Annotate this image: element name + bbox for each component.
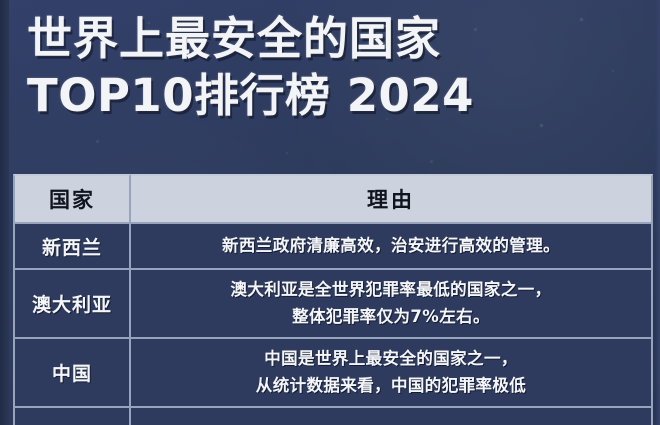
table-row-partial (13, 408, 653, 425)
reason-line: 整体犯罪率仅为7%左右。 (131, 304, 651, 331)
left-edge-strip (0, 0, 9, 425)
reason-line: 新西兰政府清廉高效，治安进行高效的管理。 (131, 233, 651, 260)
reason-line: 从统计数据来看，中国的犯罪率极低 (131, 373, 651, 400)
cell-reason: 澳大利亚是全世界犯罪率最低的国家之一， 整体犯罪率仅为7%左右。 (131, 270, 653, 339)
column-header-country: 国家 (13, 174, 131, 224)
column-header-reason: 理由 (131, 174, 653, 224)
cell-country: 中国 (13, 339, 131, 408)
cell-country-partial (13, 408, 131, 425)
poster-title: 世界上最安全的国家 TOP10排行榜 2024 (27, 16, 627, 119)
ranking-table: 国家 理由 新西兰 新西兰政府清廉高效，治安进行高效的管理。 澳大利亚 澳大利亚… (13, 174, 653, 425)
table-row: 中国 中国是世界上最安全的国家之一， 从统计数据来看，中国的犯罪率极低 (13, 339, 653, 408)
table-header: 国家 理由 (13, 174, 653, 224)
table-body: 新西兰 新西兰政府清廉高效，治安进行高效的管理。 澳大利亚 澳大利亚是全世界犯罪… (13, 224, 653, 425)
reason-line: 中国是世界上最安全的国家之一， (131, 346, 651, 373)
title-line-1: 世界上最安全的国家 (27, 16, 627, 62)
right-edge-strip (655, 0, 660, 425)
table-row: 澳大利亚 澳大利亚是全世界犯罪率最低的国家之一， 整体犯罪率仅为7%左右。 (13, 270, 653, 339)
cell-reason: 新西兰政府清廉高效，治安进行高效的管理。 (131, 224, 653, 270)
cell-reason: 中国是世界上最安全的国家之一， 从统计数据来看，中国的犯罪率极低 (131, 339, 653, 408)
table-header-row: 国家 理由 (13, 174, 653, 224)
reason-line: 澳大利亚是全世界犯罪率最低的国家之一， (131, 277, 651, 304)
poster-root: 世界上最安全的国家 TOP10排行榜 2024 国家 理由 新西兰 新西兰政府清… (0, 0, 660, 425)
cell-reason-partial (131, 408, 653, 425)
cell-country: 新西兰 (13, 224, 131, 270)
table-row: 新西兰 新西兰政府清廉高效，治安进行高效的管理。 (13, 224, 653, 270)
title-line-2: TOP10排行榜 2024 (27, 73, 627, 119)
cell-country: 澳大利亚 (13, 270, 131, 339)
